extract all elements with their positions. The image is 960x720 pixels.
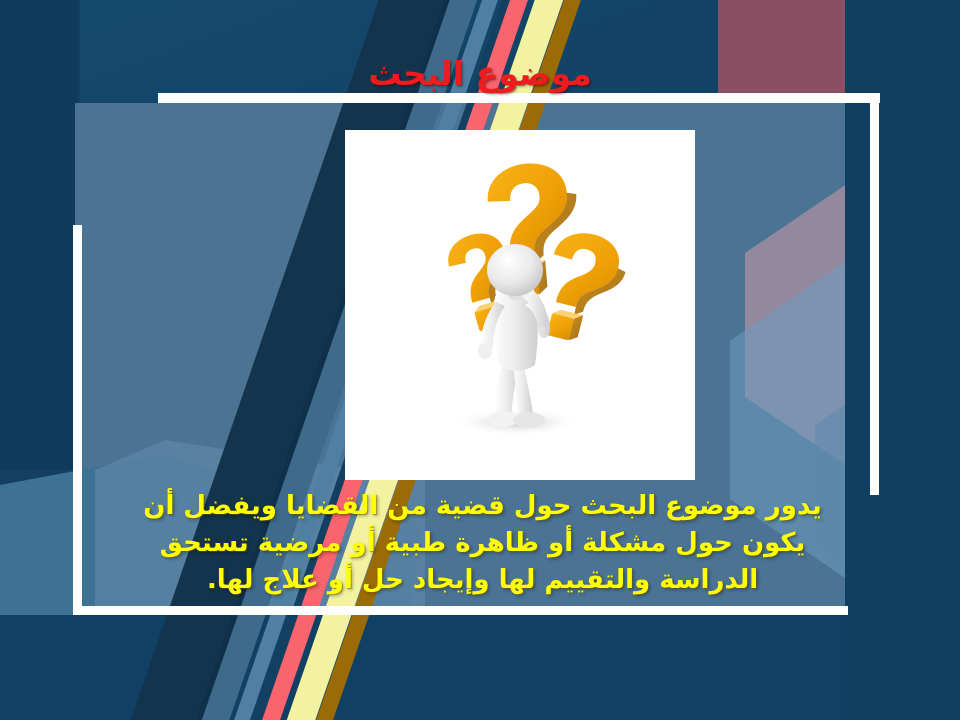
frame-line-top xyxy=(158,93,880,103)
slide-canvas: موضوع البحث يدور موضوع البحث حول قضية من… xyxy=(0,0,960,720)
slide-title: موضوع البحث xyxy=(0,56,960,92)
body-line-2: يكون حول مشكلة أو ظاهرة طبية أو مرضية تس… xyxy=(60,525,905,562)
right-dark-band xyxy=(845,0,960,720)
picture-frame xyxy=(345,130,695,480)
confused-person-question-marks-icon xyxy=(345,130,695,480)
bottom-dark-band xyxy=(0,615,960,720)
body-line-1: يدور موضوع البحث حول قضية من القضايا ويف… xyxy=(60,488,905,525)
body-line-3: الدراسة والتقييم لها وإيجاد حل أو علاج ل… xyxy=(60,562,905,599)
frame-line-bottom xyxy=(73,606,848,615)
slide-body-text: يدور موضوع البحث حول قضية من القضايا ويف… xyxy=(60,488,905,599)
frame-line-right xyxy=(870,93,879,495)
